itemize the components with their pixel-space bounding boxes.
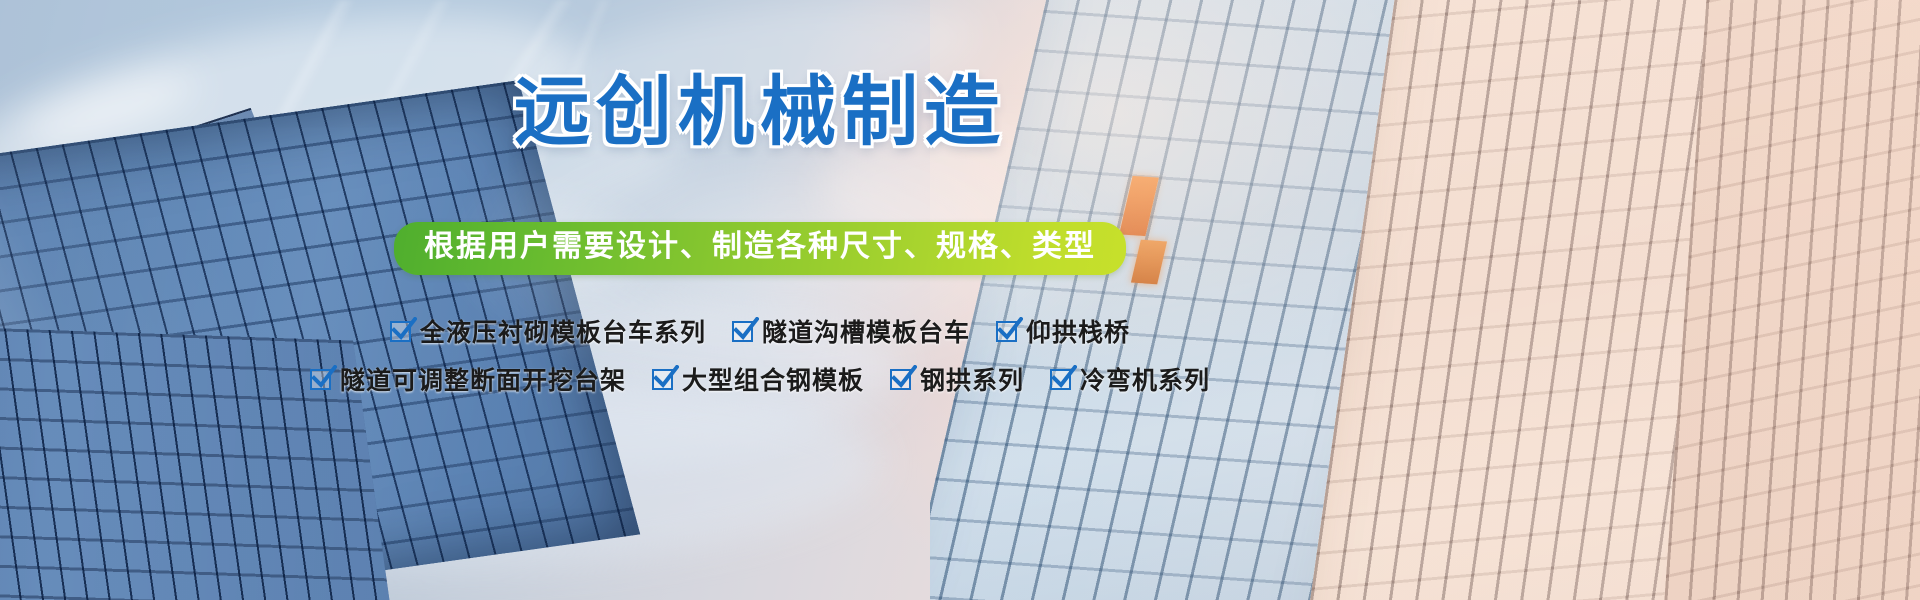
feature-label: 钢拱系列 <box>920 361 1024 397</box>
feature-item[interactable]: 仰拱栈桥 <box>996 313 1130 349</box>
feature-item[interactable]: 钢拱系列 <box>890 361 1024 397</box>
feature-list: 全液压衬砌模板台车系列 隧道沟槽模板台车 仰拱栈桥 <box>0 313 1720 409</box>
checkbox-checked-icon <box>732 321 753 342</box>
feature-label: 冷弯机系列 <box>1080 361 1210 397</box>
checkbox-checked-icon <box>996 321 1017 342</box>
feature-item[interactable]: 大型组合钢模板 <box>652 361 864 397</box>
feature-row: 隧道可调整断面开挖台架 大型组合钢模板 钢拱系列 <box>0 361 1720 397</box>
subtitle-pill: 根据用户需要设计、制造各种尺寸、规格、类型 <box>394 222 1126 275</box>
checkbox-checked-icon <box>652 369 673 390</box>
checkbox-checked-icon <box>390 321 411 342</box>
feature-label: 大型组合钢模板 <box>682 361 864 397</box>
feature-label: 隧道沟槽模板台车 <box>762 313 970 349</box>
checkbox-checked-icon <box>1050 369 1071 390</box>
feature-label: 仰拱栈桥 <box>1026 313 1130 349</box>
subtitle-container: 根据用户需要设计、制造各种尺寸、规格、类型 <box>0 222 1720 275</box>
feature-label: 隧道可调整断面开挖台架 <box>340 361 626 397</box>
feature-item[interactable]: 隧道可调整断面开挖台架 <box>310 361 626 397</box>
feature-row: 全液压衬砌模板台车系列 隧道沟槽模板台车 仰拱栈桥 <box>0 313 1720 349</box>
checkbox-checked-icon <box>890 369 911 390</box>
feature-item[interactable]: 全液压衬砌模板台车系列 <box>390 313 706 349</box>
banner-headline: 远创机械制造 <box>0 74 1720 150</box>
feature-label: 全液压衬砌模板台车系列 <box>420 313 706 349</box>
banner-content: 远创机械制造 根据用户需要设计、制造各种尺寸、规格、类型 全液压衬砌模板台车系列… <box>0 0 1920 600</box>
feature-item[interactable]: 隧道沟槽模板台车 <box>732 313 970 349</box>
checkbox-checked-icon <box>310 369 331 390</box>
feature-item[interactable]: 冷弯机系列 <box>1050 361 1210 397</box>
promo-banner: 远创机械制造 根据用户需要设计、制造各种尺寸、规格、类型 全液压衬砌模板台车系列… <box>0 0 1920 600</box>
